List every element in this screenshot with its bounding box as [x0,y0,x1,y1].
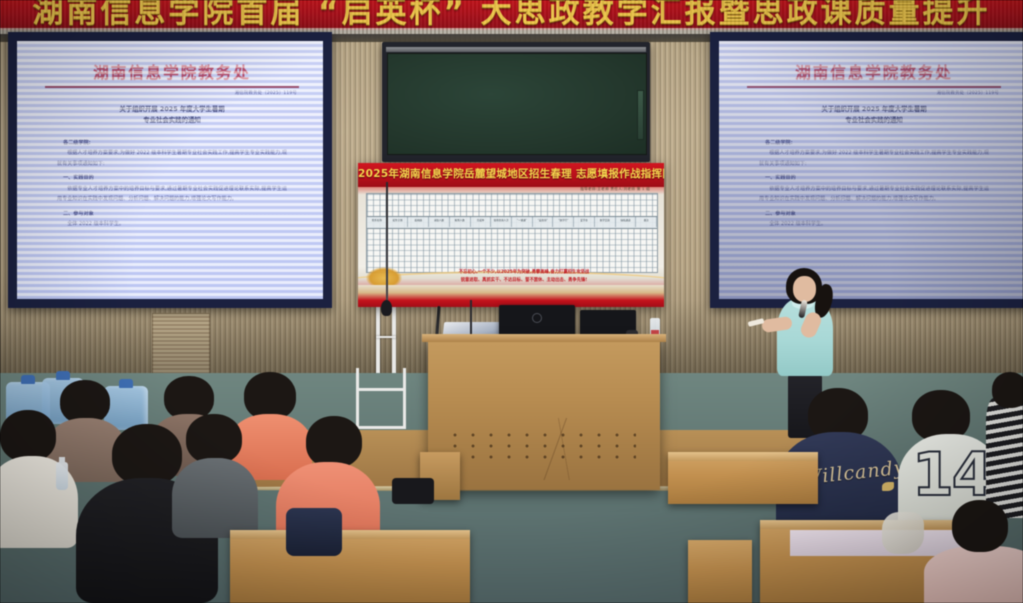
doc-para3-left: 全体 2022 级本科学生。 [57,219,287,229]
equipment-rack [356,368,406,429]
poster-table-header-cell: 备注 [636,216,657,227]
doc-body-left: 各二级学院: 根据人才培养方案要求,为做好 2022 级本科学生暑期专业社会实践… [57,138,287,230]
doc-para1-left: 根据人才培养方案要求,为做好 2022 级本科学生暑期专业社会实践工作,提高学生… [57,148,287,169]
right-screen-content: 湖南信息学院教务处 湘信院教务处〔2025〕119号 关于组织开展 2025 年… [719,41,1023,299]
poster-table-header-cell: 投档线 [408,216,429,227]
desk-top-edge-2 [668,452,818,461]
blackboard-side-control [637,90,644,140]
audience-desk-mid-right [668,452,818,504]
right-projection-screen: 湖南信息学院教务处 湘信院教务处〔2025〕119号 关于组织开展 2025 年… [710,32,1023,308]
audience-torso-mid-3 [172,458,258,538]
lecture-podium [428,340,660,490]
poster-table-header-cell: 招生计划 [388,216,409,227]
poster-bottom-ribbon [358,285,664,307]
event-banner-text: 湖南信息学院首届 “启英杯” 大思政教学汇报暨思政课质量提升 [0,0,1023,30]
blackboard-rail [386,47,646,52]
plastic-bag-on-desk [882,512,924,554]
audience-head-bottom-right [952,500,1008,552]
poster-table-header-cell: “助学行” [553,216,574,227]
poster-table-header-cell: 助学贷款 [595,216,616,227]
doc-para2-left: 依据专业人才培养方案中的培养目标与要求,通过暑期专业社会实践促进理论联系实际,提… [57,184,287,205]
blackboard-frame [382,42,650,162]
poster-table-header-cell: 院系名称 [367,216,388,227]
poster-stand-crossbar [376,336,396,338]
water-jug-cap-1 [21,375,35,384]
lecture-hall-photo: 湖南信息学院首届 “启英杯” 大思政教学汇报暨思政课质量提升 湖南信息学院教务处… [0,0,1023,603]
poster-table-grid-horizontal [367,194,657,272]
left-screen-document: 湖南信息学院教务处 湘信院教务处〔2025〕119号 关于组织开展 2025 年… [31,45,313,299]
audience-head-back-3 [244,372,296,420]
rack-crossbar [359,388,403,391]
water-jug-cap-2 [56,371,70,380]
audience-head-mid-1 [0,410,56,462]
poster-title: 2025年湖南信息学院岳麓望城地区招生春理 志愿填报作战指挥图 [358,166,664,181]
doc-heading1-left: 一、实践目的 [57,173,287,183]
poster-table-header-cell: 完成率 [471,216,492,227]
poster-slogan-line2: 锐意进取、真抓实干、不达目标、誓不罢休、主动出击、勇争先锋! [461,278,588,283]
audience-head-mid-4 [306,416,362,468]
desk-top-edge-1 [230,530,470,539]
bag-on-bench [286,508,342,556]
poster-table-header-cells: 院系名称招生计划投档线录取人数报到人数完成率现场咨询人次“一键通”“云咨询”“助… [367,216,657,227]
admissions-poster: 2025年湖南信息学院岳麓望城地区招生春理 志愿填报作战指挥图 指导老师:王老师… [358,163,664,307]
doc-salutation-left: 各二级学院: [57,138,287,148]
microphone-head-icon [381,300,392,316]
doc-org-header-left: 湖南信息学院教务处 [31,61,313,83]
backpack-on-floor [392,478,434,504]
audience-torso-bottom-right-pink [924,546,1023,603]
butterfly-logo-icon [882,482,894,491]
poster-table-header-cell: 现场咨询人次 [491,216,512,227]
blackboard-surface [387,53,647,155]
poster-table-header-cell: “一键通” [512,216,533,227]
poster-table-header-cell: 绿色通道 [616,216,637,227]
poster-table-header-cell: 报到人数 [450,216,471,227]
microphone-stand-pole [386,182,388,310]
doc-number-left: 湘信院教务处〔2025〕119号 [31,90,297,96]
water-bottle-audience [56,462,68,490]
poster-data-table: 院系名称招生计划投档线录取人数报到人数完成率现场咨询人次“一键通”“云咨询”“助… [366,193,658,273]
audience-head-right-striped [992,372,1023,408]
doc-title-left: 关于组织开展 2025 年度大学生暑期 专业社会实践的通知 [31,104,313,126]
poster-slogan-line1: 不忘初心,一个不少,以2025年为突破,勇攀高峰,奋力打赢招生攻坚战 [459,270,589,275]
doc-header-rule-left [45,86,299,88]
podium-perforation-pattern [452,432,636,466]
poster-table-header-cell: “云咨询” [533,216,554,227]
dell-logo-icon [532,313,542,323]
audience-desk-front-left [230,530,470,603]
doc-heading2-left: 二、参与对象 [57,209,287,219]
poster-table-header-cell: 录取人数 [429,216,450,227]
audience-head-mid-2 [112,424,182,486]
audience-head-mid-3 [186,414,242,464]
left-projection-screen: 湖南信息学院教务处 湘信院教务处〔2025〕119号 关于组织开展 2025 年… [8,32,332,308]
doc-title-line1-left: 关于组织开展 2025 年度大学生暑期 [119,105,224,113]
event-banner: 湖南信息学院首届 “启英杯” 大思政教学汇报暨思政课质量提升 [0,0,1023,30]
bench-divider-right [688,540,752,603]
doc-title-line2-left: 专业社会实践的通知 [143,116,201,124]
poster-table-header-cell: 奖学金 [574,216,595,227]
poster-slogan: 不忘初心,一个不少,以2025年为突破,勇攀高峰,奋力打赢招生攻坚战 锐意进取、… [398,269,650,285]
right-screen-shadow [719,41,1023,299]
left-screen-content: 湖南信息学院教务处 湘信院教务处〔2025〕119号 关于组织开展 2025 年… [17,41,323,299]
poster-meta: 指导老师:王老师 责任人:刘老师 第 1 组 [580,187,650,192]
water-jug-cap-3 [119,379,133,388]
audience-torso-right-striped [986,398,1023,518]
presenter-face [793,276,816,302]
podium-top-edge [422,334,666,342]
